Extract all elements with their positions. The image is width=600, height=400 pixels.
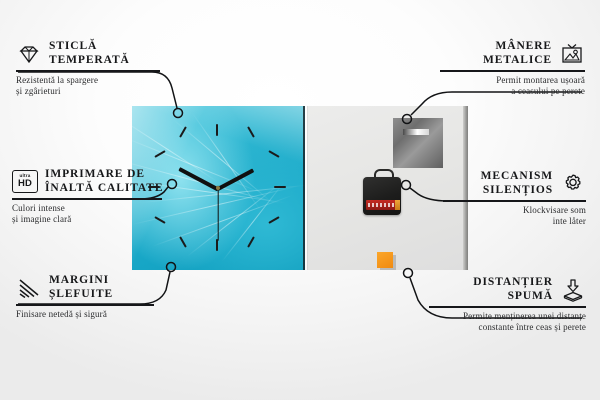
polished-edge-icon <box>16 276 42 300</box>
feature-desc-line2: a ceasului pe perete <box>511 86 585 96</box>
feature-title: DISTANȚIER SPUMĂ <box>473 276 553 303</box>
clock-hour-mark <box>268 150 279 158</box>
feature-title-line2: SILENȚIOS <box>483 184 553 196</box>
clock-center-pin <box>216 186 220 190</box>
feature-desc-line1: Permit montarea ușoară <box>496 75 585 85</box>
feature-desc-line1: Klockvisare som <box>523 205 586 215</box>
feature-heading: STICLĂ TEMPERATĂ <box>16 40 161 67</box>
ultra-hd-icon-hd-text: HD <box>18 179 32 189</box>
ultra-hd-icon: ultra HD <box>12 170 38 194</box>
feature-title-line2: ȘLEFUITE <box>49 288 113 300</box>
feature-desc-line1: Permite menținerea unei distanțe <box>463 311 586 321</box>
feature-title-line1: MARGINI <box>49 274 109 286</box>
foam-spacer-icon <box>560 278 586 302</box>
clock-hour-mark <box>216 124 218 136</box>
clock-hour-mark <box>274 186 286 188</box>
gear-icon <box>560 172 586 196</box>
feature-title: MECANISM SILENȚIOS <box>481 170 553 197</box>
feature-divider <box>16 70 160 72</box>
feature-divider <box>440 70 585 72</box>
picture-hanger-icon <box>559 42 585 66</box>
clock-hour-mark <box>268 216 279 224</box>
feature-description: Finisare netedă și sigură <box>16 309 156 321</box>
feature-title-line2: TEMPERATĂ <box>49 54 130 66</box>
clock-second-hand <box>217 189 218 241</box>
feature-desc-line2: și zgârieturi <box>16 86 61 96</box>
feature-title-line1: DISTANȚIER <box>473 276 553 288</box>
hanger-slot <box>403 129 429 135</box>
clock-hour-mark <box>247 236 255 247</box>
feature-glass-tempered[interactable]: STICLĂ TEMPERATĂ Rezistentă la spargere … <box>16 40 161 98</box>
feature-title: MÂNERE METALICE <box>483 40 552 67</box>
feature-title: IMPRIMARE DE ÎNALTĂ CALITATE <box>45 168 163 195</box>
battery-label <box>368 203 394 207</box>
feature-heading: DISTANȚIER SPUMĂ <box>429 276 586 303</box>
battery-tip <box>395 200 400 210</box>
feature-description: Rezistentă la spargere și zgârieturi <box>16 75 161 98</box>
clock-hour-mark <box>247 126 255 137</box>
feature-divider <box>429 306 586 308</box>
foam-spacer <box>377 252 393 268</box>
feature-silent-mechanism[interactable]: MECANISM SILENȚIOS Klockvisare som inte … <box>443 170 586 228</box>
feature-desc-line2: constante între ceas și perete <box>479 322 586 332</box>
feature-title: MARGINI ȘLEFUITE <box>49 274 113 301</box>
feature-metal-hangers[interactable]: MÂNERE METALICE Permit montarea ușoară a… <box>440 40 585 98</box>
clock-hour-mark <box>216 239 218 251</box>
feature-heading: ultra HD IMPRIMARE DE ÎNALTĂ CALITATE <box>12 168 164 195</box>
clock-hour-mark <box>179 236 187 247</box>
product-photo <box>132 106 468 270</box>
diamond-icon <box>16 42 42 66</box>
feature-title-line1: MECANISM <box>481 170 553 182</box>
feature-heading: MARGINI ȘLEFUITE <box>16 274 156 301</box>
feature-title: STICLĂ TEMPERATĂ <box>49 40 130 67</box>
feature-title-line2: SPUMĂ <box>508 290 553 302</box>
feature-description: Klockvisare som inte låter <box>443 205 586 228</box>
feature-desc-line1: Culori intense <box>12 203 65 213</box>
feature-title-line1: STICLĂ <box>49 40 97 52</box>
feature-divider <box>16 304 154 306</box>
infographic-canvas: STICLĂ TEMPERATĂ Rezistentă la spargere … <box>0 0 600 400</box>
metal-hanger-plate <box>393 118 443 168</box>
feature-foam-spacer[interactable]: DISTANȚIER SPUMĂ Permite menținerea unei… <box>429 276 586 334</box>
feature-description: Permite menținerea unei distanțe constan… <box>429 311 586 334</box>
feature-heading: MECANISM SILENȚIOS <box>443 170 586 197</box>
feature-title-line1: MÂNERE <box>495 40 552 52</box>
feature-desc-line1: Rezistentă la spargere <box>16 75 98 85</box>
feature-title-line2: METALICE <box>483 54 552 66</box>
feature-desc-line2: inte låter <box>553 216 586 226</box>
feature-divider <box>12 198 162 200</box>
feature-desc-line2: și imagine clară <box>12 214 71 224</box>
feature-polished-edges[interactable]: MARGINI ȘLEFUITE Finisare netedă și sigu… <box>16 274 156 320</box>
feature-title-line1: IMPRIMARE DE <box>45 168 145 180</box>
feature-heading: MÂNERE METALICE <box>440 40 585 67</box>
clock-hour-mark <box>179 126 187 137</box>
feature-divider <box>443 200 586 202</box>
feature-desc-line1: Finisare netedă și sigură <box>16 309 107 319</box>
feature-description: Culori intense și imagine clară <box>12 203 164 226</box>
feature-description: Permit montarea ușoară a ceasului pe per… <box>440 75 585 98</box>
feature-title-line2: ÎNALTĂ CALITATE <box>45 182 163 194</box>
feature-print-quality[interactable]: ultra HD IMPRIMARE DE ÎNALTĂ CALITATE Cu… <box>12 168 164 226</box>
